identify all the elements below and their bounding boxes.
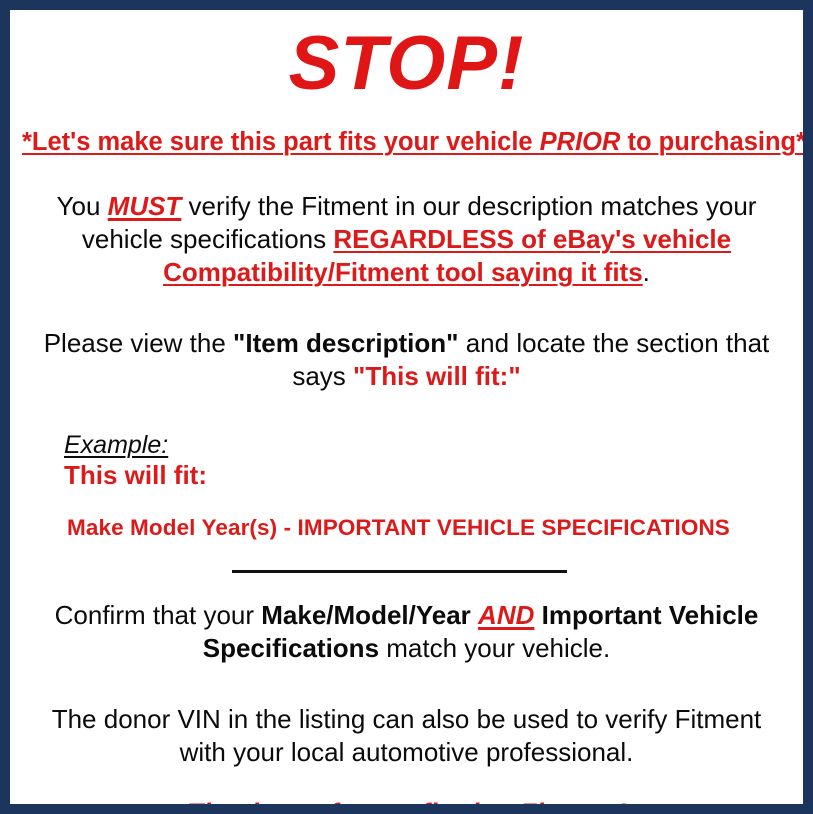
subtitle-prior-emphasis: PRIOR [540, 128, 621, 156]
para2-this-will-fit-label: "This will fit:" [353, 361, 521, 391]
subtitle-after-prior: to purchasing* [620, 128, 806, 156]
subtitle-line: *Let's make sure this part fits your veh… [22, 128, 791, 156]
para1-seg-you: You [57, 191, 108, 221]
para1-must-emphasis: MUST [108, 191, 182, 221]
para2-seg-please: Please view the [44, 328, 233, 358]
example-label: Example: [64, 431, 168, 459]
para3-make-model-year: Make/Model/Year [261, 600, 471, 630]
thank-you-line: Thank you for confirming Fitment! [22, 799, 791, 814]
paragraph-confirm-match: Confirm that your Make/Model/Year AND Im… [22, 599, 791, 665]
para2-item-description-label: "Item description" [233, 328, 458, 358]
para3-space-1 [471, 600, 478, 630]
example-block: Example: This will fit: Make Model Year(… [22, 431, 791, 540]
notice-content: STOP! *Let's make sure this part fits yo… [10, 26, 803, 814]
subtitle-before-prior: *Let's make sure this part fits your veh… [22, 128, 540, 156]
paragraph-donor-vin: The donor VIN in the listing can also be… [22, 703, 791, 769]
para3-seg-match: match your vehicle. [379, 633, 610, 663]
paragraph-verify-fitment: You MUST verify the Fitment in our descr… [22, 190, 791, 289]
para3-seg-confirm: Confirm that your [55, 600, 262, 630]
para3-space-2 [534, 600, 541, 630]
example-this-will-fit: This will fit: [64, 460, 791, 491]
para1-period: . [643, 257, 650, 287]
example-label-row: Example: [64, 431, 791, 459]
stop-headline: STOP! [22, 26, 791, 102]
example-spec-line: Make Model Year(s) - IMPORTANT VEHICLE S… [64, 516, 791, 541]
divider-wrap [22, 567, 791, 577]
section-divider [232, 570, 567, 573]
paragraph-item-description: Please view the "Item description" and l… [22, 327, 791, 393]
fitment-notice-page: STOP! *Let's make sure this part fits yo… [0, 0, 813, 814]
para3-and-emphasis: AND [478, 600, 534, 630]
